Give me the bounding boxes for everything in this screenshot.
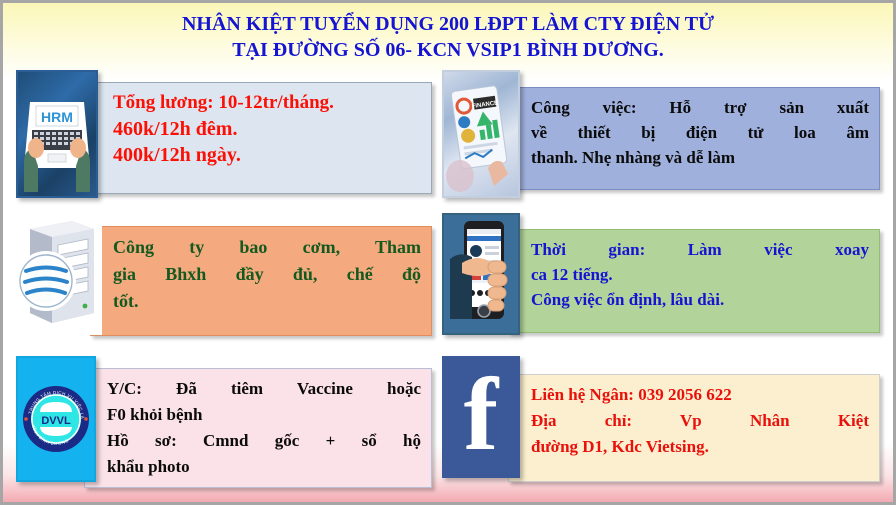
finance-tablet-icon: FINANCE xyxy=(442,70,520,198)
title-line-1: NHÂN KIỆT TUYỂN DỤNG 200 LĐPT LÀM CTY ĐI… xyxy=(3,11,893,37)
time-line-2: ca 12 tiếng. xyxy=(531,262,869,287)
time-line-1: Thời gian: Làm việc xoay xyxy=(531,237,869,262)
requirements-line-4: khẩu photo xyxy=(107,454,421,480)
title-line-2: TẠI ĐƯỜNG SỐ 06- KCN VSIP1 BÌNH DƯƠNG. xyxy=(3,37,893,63)
salary-textbox: Tổng lương: 10-12tr/tháng. 460k/12h đêm.… xyxy=(86,82,432,194)
welfare-line-1: Công ty bao cơm, Tham xyxy=(113,234,421,261)
block-welfare: Công ty bao cơm, Tham gia Bhxh đầy đủ, c… xyxy=(16,213,432,349)
block-contact: f Liên hệ Ngân: 039 2056 622 Địa chỉ: Vp… xyxy=(442,356,880,499)
page-title: NHÂN KIỆT TUYỂN DỤNG 200 LĐPT LÀM CTY ĐI… xyxy=(3,3,893,63)
requirements-line-1: Y/C: Đã tiêm Vaccine hoặc xyxy=(107,376,421,402)
facebook-icon[interactable]: f xyxy=(442,356,520,478)
contact-address-line-1: Địa chỉ: Vp Nhân Kiệt xyxy=(531,408,869,434)
welfare-line-2: gia Bhxh đầy đủ, chế độ xyxy=(113,261,421,288)
svg-text:HRM: HRM xyxy=(41,109,73,125)
job-line-3: thanh. Nhẹ nhàng và dễ làm xyxy=(531,145,869,170)
block-time: Thời gian: Làm việc xoay ca 12 tiếng. Cô… xyxy=(442,213,880,349)
requirements-line-3: Hồ sơ: Cmnd gốc + sổ hộ xyxy=(107,428,421,454)
salary-line-2: 460k/12h đêm. xyxy=(113,116,421,142)
salary-line-1: Tổng lương: 10-12tr/tháng. xyxy=(113,90,421,116)
time-line-3: Công việc ổn định, lâu dài. xyxy=(531,287,869,312)
hand-smartphone-icon xyxy=(442,213,520,335)
salary-line-3: 400k/12h ngày. xyxy=(113,142,421,168)
requirements-line-2: F0 khỏi bệnh xyxy=(107,402,421,428)
contact-phone-line: Liên hệ Ngân: 039 2056 622 xyxy=(531,382,869,408)
job-line-2: về thiết bị điện tử loa âm xyxy=(531,120,869,145)
block-requirements: DVVL TRUNG TÂM DỊCH VỤ VIỆC LÀM TỈNH BÌN… xyxy=(16,356,432,499)
recruitment-poster: NHÂN KIỆT TUYỂN DỤNG 200 LĐPT LÀM CTY ĐI… xyxy=(0,0,896,505)
svg-text:DVVL: DVVL xyxy=(41,415,71,427)
job-line-1: Công việc: Hỗ trợ sản xuất xyxy=(531,95,869,120)
dvvl-seal-icon: DVVL TRUNG TÂM DỊCH VỤ VIỆC LÀM TỈNH BÌN… xyxy=(16,356,96,482)
welfare-line-3: tốt. xyxy=(113,288,421,315)
requirements-textbox: Y/C: Đã tiêm Vaccine hoặc F0 khỏi bệnh H… xyxy=(84,368,432,488)
block-salary: HRM xyxy=(16,70,432,206)
info-grid: HRM xyxy=(3,63,893,499)
job-textbox: Công việc: Hỗ trợ sản xuất về thiết bị đ… xyxy=(508,87,880,190)
facebook-glyph: f xyxy=(444,358,518,476)
contact-textbox: Liên hệ Ngân: 039 2056 622 Địa chỉ: Vp N… xyxy=(508,374,880,482)
contact-address-line-2: đường D1, Kdc Vietsing. xyxy=(531,434,869,460)
time-textbox: Thời gian: Làm việc xoay ca 12 tiếng. Cô… xyxy=(508,229,880,333)
block-job: FINANCE xyxy=(442,70,880,206)
hrm-laptop-icon: HRM xyxy=(16,70,98,198)
server-tower-icon xyxy=(16,213,102,335)
welfare-textbox: Công ty bao cơm, Tham gia Bhxh đầy đủ, c… xyxy=(90,226,432,336)
poster-content: NHÂN KIỆT TUYỂN DỤNG 200 LĐPT LÀM CTY ĐI… xyxy=(3,3,893,499)
